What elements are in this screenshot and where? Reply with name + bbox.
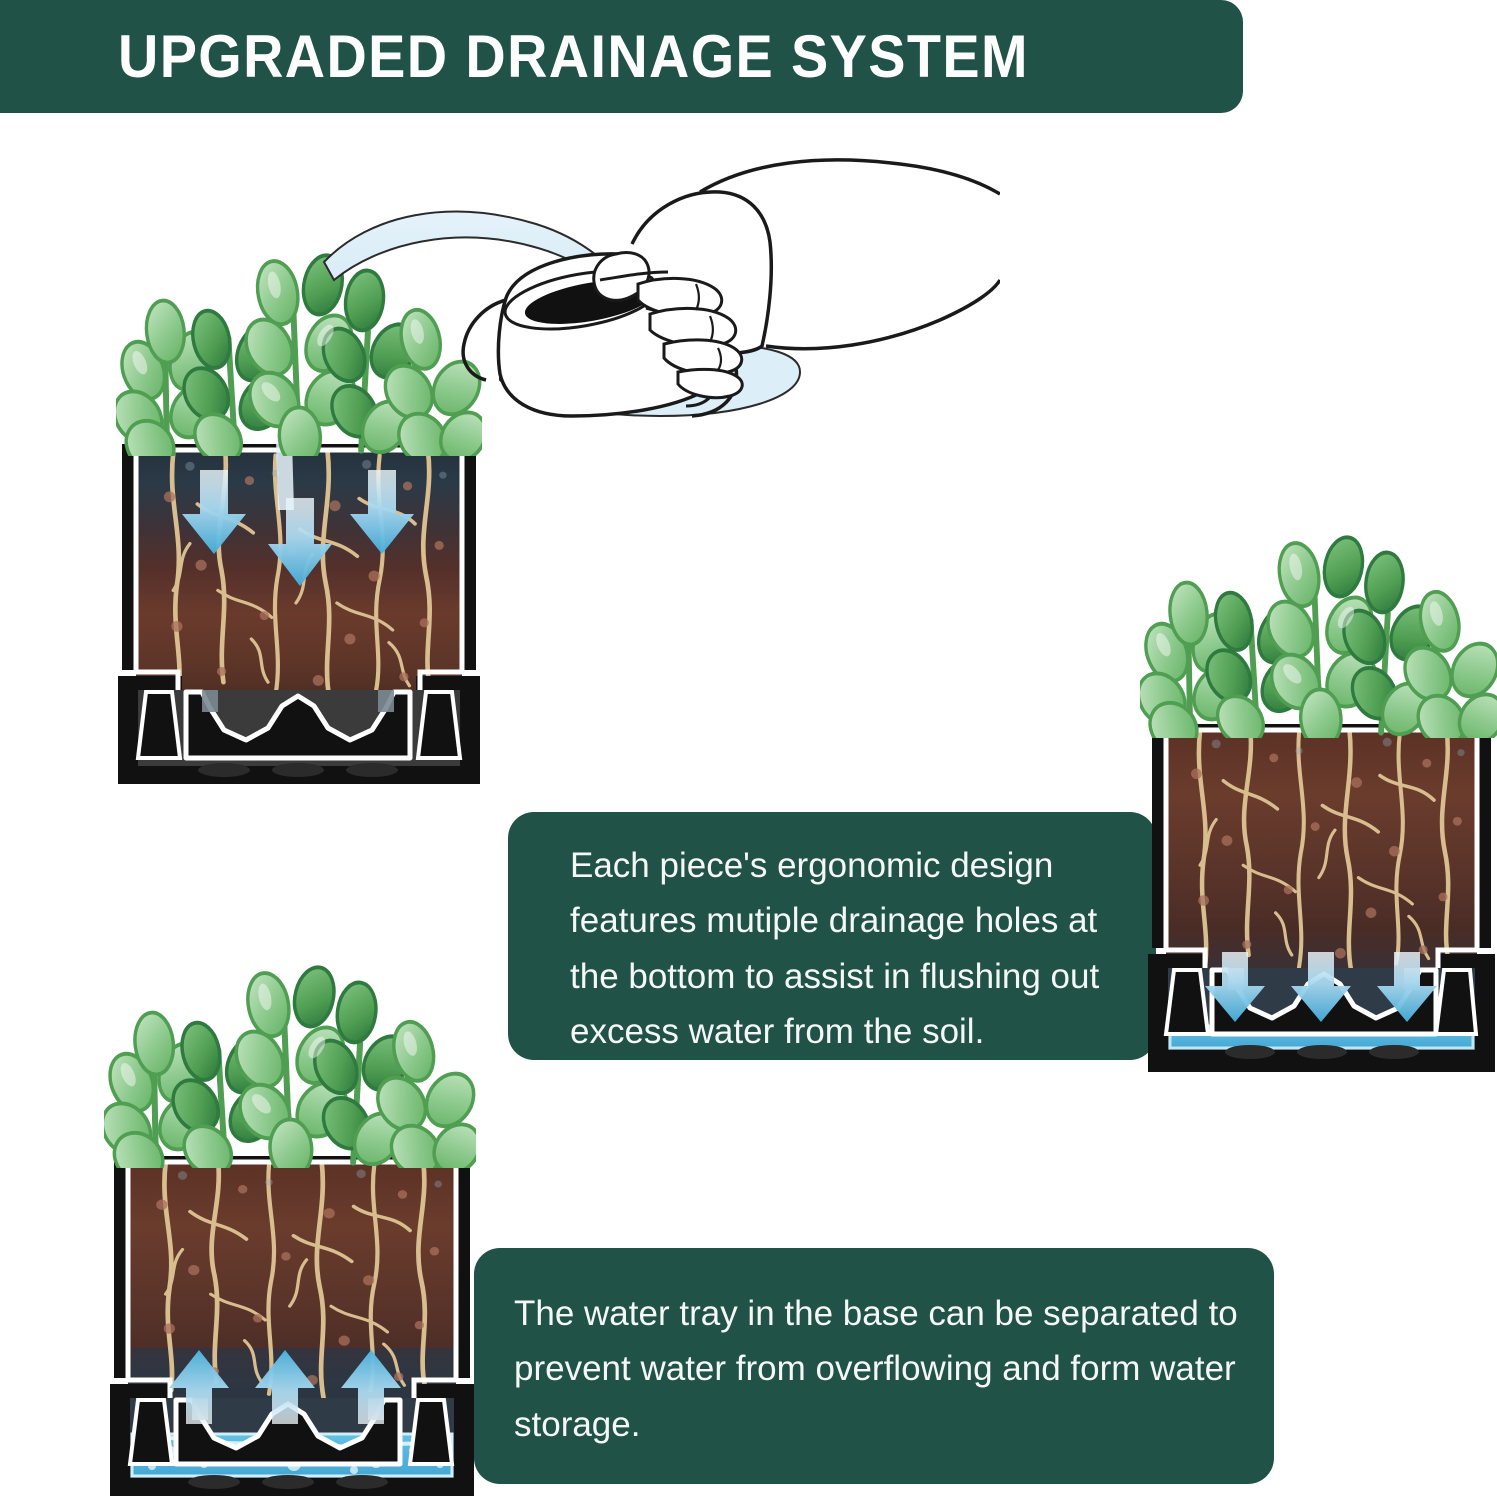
planter-draining-svg [1146,720,1497,1078]
planter-storage [108,1152,476,1500]
planter-draining [1146,720,1497,1078]
callout-drainage-holes-text: Each piece's ergonomic design features m… [570,838,1128,1059]
hand-pouring-watering-can [300,148,1000,518]
page-title: UPGRADED DRAINAGE SYSTEM [118,27,1029,87]
planter-storage-svg [108,1152,476,1500]
flow-arrows-up [169,1350,401,1424]
flow-arrows-down [1205,952,1437,1022]
plant-bottom-left [104,958,476,1168]
succulent-bottom-left [104,958,476,1168]
watering-can-svg [300,148,1000,518]
succulent-right [1140,528,1497,738]
callout-water-tray-text: The water tray in the base can be separa… [514,1286,1244,1452]
plant-right [1140,528,1497,738]
infographic-canvas: UPGRADED DRAINAGE SYSTEM Each piece's er… [0,0,1497,1500]
callout-water-tray: The water tray in the base can be separa… [474,1248,1274,1484]
callout-drainage-holes: Each piece's ergonomic design features m… [508,812,1156,1060]
title-banner: UPGRADED DRAINAGE SYSTEM [0,0,1243,113]
